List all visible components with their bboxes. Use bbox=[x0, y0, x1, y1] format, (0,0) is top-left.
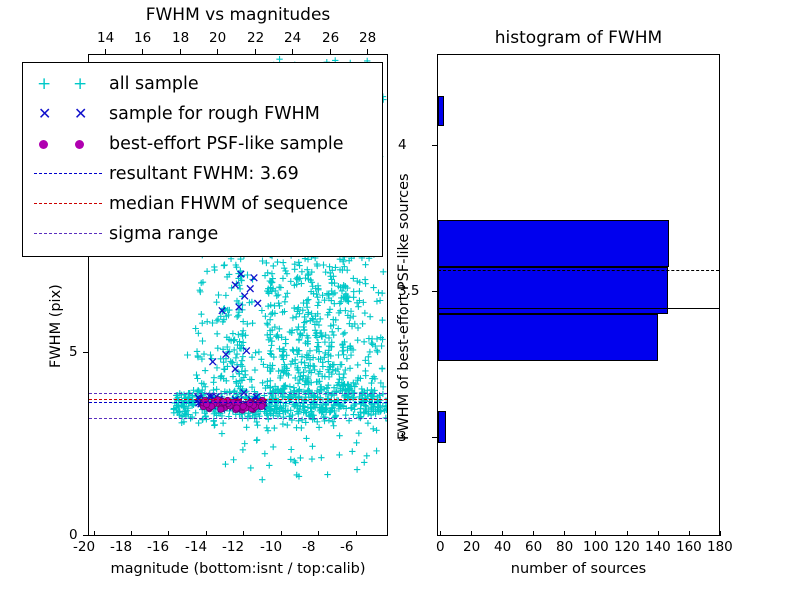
xtick-label: -14 bbox=[185, 539, 207, 555]
top-xtick-label: 18 bbox=[172, 30, 189, 46]
legend-marker-dashdot bbox=[31, 221, 105, 247]
histogram-bar bbox=[438, 411, 446, 443]
hist-hline-sigma bbox=[438, 308, 719, 309]
hline-sigma-lower bbox=[89, 418, 387, 419]
hist-ytick-label: 4 bbox=[398, 137, 407, 153]
xtick-label: -12 bbox=[222, 539, 244, 555]
legend-marker-plus: + + bbox=[31, 71, 105, 97]
histogram-axes bbox=[437, 54, 720, 536]
xtick-label: -6 bbox=[340, 539, 353, 555]
histogram-xlabel: number of sources bbox=[437, 561, 720, 577]
hist-xtick-label: 40 bbox=[494, 539, 511, 555]
histogram-bar bbox=[438, 267, 668, 314]
hist-xtick-label: 80 bbox=[556, 539, 573, 555]
legend-item-resultant-fwhm: resultant FWHM: 3.69 bbox=[31, 159, 374, 189]
hist-hline-resultant-fwhm bbox=[438, 270, 719, 271]
legend-item-rough-fwhm: ✕ ✕ sample for rough FWHM bbox=[31, 99, 374, 129]
histogram-bar bbox=[438, 314, 658, 361]
legend-label: resultant FWHM: 3.69 bbox=[105, 164, 299, 184]
legend-label: median FHWM of sequence bbox=[105, 194, 348, 214]
xtick-label: -8 bbox=[302, 539, 315, 555]
xtick-label: -10 bbox=[260, 539, 282, 555]
legend-label: sigma range bbox=[105, 224, 218, 244]
histogram-ylabel: FWHM of best-effort PSF-like sources bbox=[396, 173, 412, 440]
legend-marker-dashed-red bbox=[31, 191, 105, 217]
top-xtick-label: 24 bbox=[284, 30, 301, 46]
legend-marker-x: ✕ ✕ bbox=[31, 101, 105, 127]
legend-item-sigma-range: sigma range bbox=[31, 219, 374, 249]
scatter-ylabel: FWHM (pix) bbox=[48, 284, 64, 368]
hist-xtick-label: 120 bbox=[614, 539, 640, 555]
hist-xtick-label: 60 bbox=[525, 539, 542, 555]
top-xtick-label: 26 bbox=[322, 30, 339, 46]
hist-xtick-label: 0 bbox=[436, 539, 445, 555]
hist-xtick-label: 160 bbox=[676, 539, 702, 555]
legend-label: all sample bbox=[105, 74, 199, 94]
legend-marker-circle bbox=[31, 131, 105, 157]
hist-xtick-label: 100 bbox=[583, 539, 609, 555]
hist-xtick-label: 20 bbox=[463, 539, 480, 555]
hist-xtick-label: 140 bbox=[645, 539, 671, 555]
histogram-bar bbox=[438, 220, 669, 267]
xtick-label: -18 bbox=[110, 539, 132, 555]
scatter-title: FWHM vs magnitudes bbox=[88, 5, 388, 25]
ytick-label: 0 bbox=[69, 527, 78, 543]
legend-marker-dashed-blue bbox=[31, 161, 105, 187]
top-xtick-label: 28 bbox=[359, 30, 376, 46]
top-xtick-label: 16 bbox=[134, 30, 151, 46]
scatter-xlabel: magnitude (bottom:isnt / top:calib) bbox=[78, 561, 398, 577]
ytick-label: 5 bbox=[69, 344, 78, 360]
legend-label: best-effort PSF-like sample bbox=[105, 134, 344, 154]
legend-item-psf-like: best-effort PSF-like sample bbox=[31, 129, 374, 159]
hline-median-fwhm bbox=[89, 399, 387, 400]
hline-resultant-fwhm bbox=[89, 402, 387, 403]
legend-item-all-sample: + + all sample bbox=[31, 69, 374, 99]
scatter-legend: + + all sample ✕ ✕ sample for rough FWHM… bbox=[22, 62, 383, 257]
legend-label: sample for rough FWHM bbox=[105, 104, 320, 124]
hist-xtick-label: 180 bbox=[707, 539, 733, 555]
legend-item-median-fwhm: median FHWM of sequence bbox=[31, 189, 374, 219]
histogram-title: histogram of FWHM bbox=[437, 28, 720, 48]
hline-sigma-upper bbox=[89, 393, 387, 394]
figure: -20 -18 -16 -14 -12 -10 -8 -6 14 16 18 2… bbox=[0, 0, 800, 600]
xtick-label: -16 bbox=[147, 539, 169, 555]
histogram-plot-area bbox=[438, 55, 719, 535]
top-xtick-label: 22 bbox=[247, 30, 264, 46]
histogram-bar bbox=[438, 96, 444, 125]
top-xtick-label: 14 bbox=[97, 30, 114, 46]
top-xtick-label: 20 bbox=[209, 30, 226, 46]
